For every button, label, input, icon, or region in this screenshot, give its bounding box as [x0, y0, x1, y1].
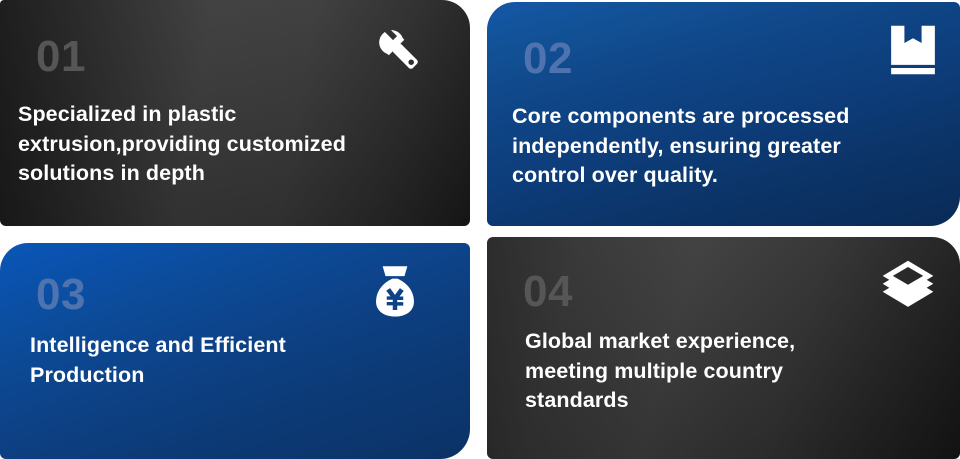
feature-card-01[interactable]: 01 Specialized in plastic extrusion,prov…	[0, 0, 470, 226]
card-number-02: 02	[523, 37, 573, 81]
book-icon	[888, 24, 938, 76]
feature-card-grid: 01 Specialized in plastic extrusion,prov…	[0, 0, 960, 459]
card-text-01: Specialized in plastic extrusion,providi…	[18, 100, 452, 189]
card-number-04: 04	[523, 270, 573, 314]
money-bag-icon	[368, 263, 422, 319]
card-number-01: 01	[36, 35, 86, 79]
card-text-04: Global market experience, meeting multip…	[525, 327, 942, 416]
wrench-icon	[374, 25, 426, 77]
card-text-03: Intelligence and Efficient Production	[30, 331, 452, 390]
feature-card-04[interactable]: 04 Global market experience, meeting mul…	[487, 237, 960, 459]
layers-icon	[881, 259, 935, 313]
card-number-03: 03	[36, 273, 86, 317]
feature-card-03[interactable]: 03 Intelligence and Efficient Production	[0, 243, 470, 459]
feature-card-02[interactable]: 02 Core components are processed indepen…	[487, 2, 960, 226]
card-text-02: Core components are processed independen…	[512, 102, 952, 191]
